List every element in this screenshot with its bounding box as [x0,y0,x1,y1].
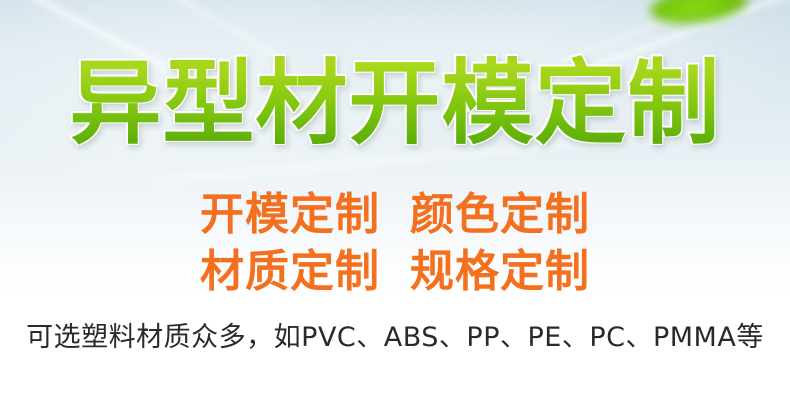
subtitle-1-right: 颜色定制 [410,189,590,240]
subtitle-line-1: 开模定制颜色定制 [0,186,790,243]
subtitle-1-left: 开模定制 [200,189,380,240]
promo-banner: 异型材开模定制 开模定制颜色定制 材质定制规格定制 可选塑料材质众多，如PVC、… [0,0,790,400]
banner-footnote: 可选塑料材质众多，如PVC、ABS、PP、PE、PC、PMMA等 [0,320,790,356]
banner-headline: 异型材开模定制 [0,52,790,156]
subtitle-2-right: 规格定制 [410,246,590,297]
subtitle-line-2: 材质定制规格定制 [0,243,790,300]
banner-subtitle-group: 开模定制颜色定制 材质定制规格定制 [0,186,790,300]
banner-content: 异型材开模定制 开模定制颜色定制 材质定制规格定制 可选塑料材质众多，如PVC、… [0,0,790,400]
subtitle-2-left: 材质定制 [200,246,380,297]
